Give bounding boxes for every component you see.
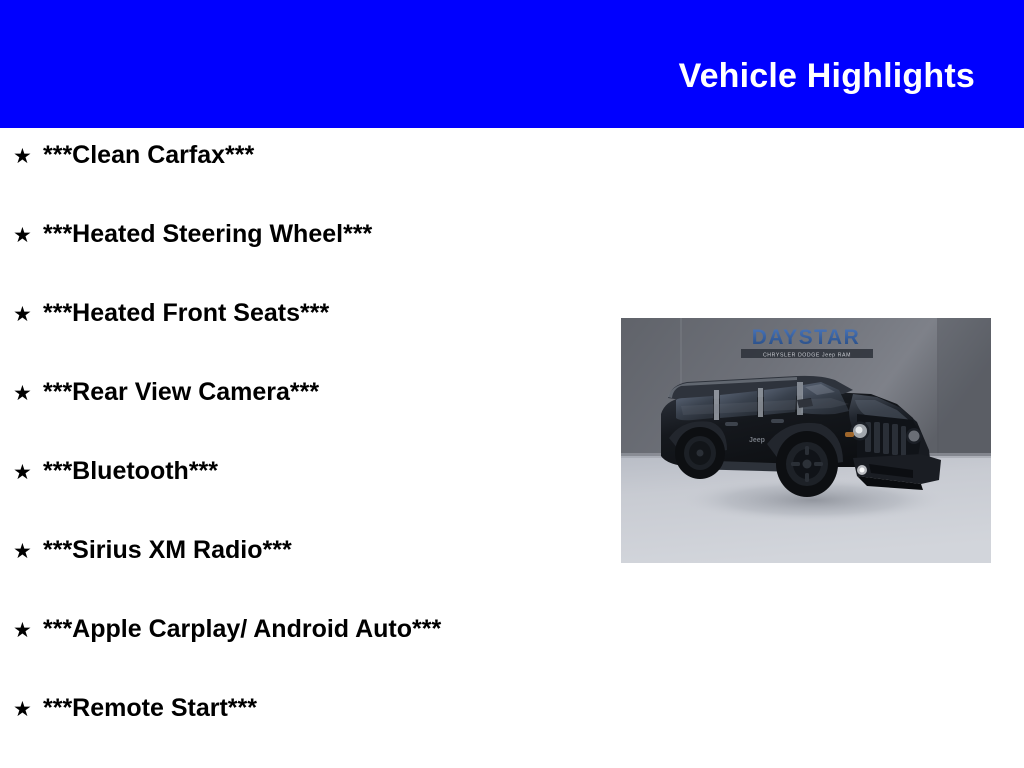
- star-icon: ★: [13, 225, 43, 246]
- header-banner: Vehicle Highlights: [0, 0, 1024, 128]
- list-item: ★ ***Bluetooth***: [0, 459, 620, 538]
- star-icon: ★: [13, 146, 43, 167]
- star-icon: ★: [13, 462, 43, 483]
- list-item: ★ ***Sirius XM Radio***: [0, 538, 620, 617]
- star-icon: ★: [13, 383, 43, 404]
- list-item: ★ ***Clean Carfax***: [0, 143, 620, 222]
- star-icon: ★: [13, 699, 43, 720]
- list-item: ★ ***Heated Front Seats***: [0, 301, 620, 380]
- list-item-label: ***Rear View Camera***: [43, 380, 319, 405]
- list-item-label: ***Remote Start***: [43, 696, 257, 721]
- svg-text:CHRYSLER DODGE Jeep RAM: CHRYSLER DODGE Jeep RAM: [763, 353, 851, 359]
- page-title: Vehicle Highlights: [679, 33, 1024, 96]
- vehicle-photo: DAYSTAR CHRYSLER DODGE Jeep RAM: [621, 318, 991, 563]
- star-icon: ★: [13, 304, 43, 325]
- list-item-label: ***Clean Carfax***: [43, 143, 254, 168]
- list-item: ★ ***Remote Start***: [0, 696, 620, 768]
- star-icon: ★: [13, 541, 43, 562]
- list-item-label: ***Bluetooth***: [43, 459, 218, 484]
- dealer-sign: DAYSTAR CHRYSLER DODGE Jeep RAM: [741, 326, 873, 359]
- svg-text:Jeep: Jeep: [749, 437, 765, 444]
- list-item: ★ ***Heated Steering Wheel***: [0, 222, 620, 301]
- list-item: ★ ***Rear View Camera***: [0, 380, 620, 459]
- rear-wheel: [675, 427, 725, 479]
- list-item: ★ ***Apple Carplay/ Android Auto***: [0, 617, 620, 696]
- list-item-label: ***Heated Front Seats***: [43, 301, 329, 326]
- front-wheel: [776, 431, 838, 497]
- list-item-label: ***Sirius XM Radio***: [43, 538, 292, 563]
- svg-text:DAYSTAR: DAYSTAR: [752, 326, 861, 349]
- star-icon: ★: [13, 620, 43, 641]
- vehicle-highlights-list: ★ ***Clean Carfax*** ★ ***Heated Steerin…: [0, 128, 620, 768]
- list-item-label: ***Heated Steering Wheel***: [43, 222, 372, 247]
- list-item-label: ***Apple Carplay/ Android Auto***: [43, 617, 441, 642]
